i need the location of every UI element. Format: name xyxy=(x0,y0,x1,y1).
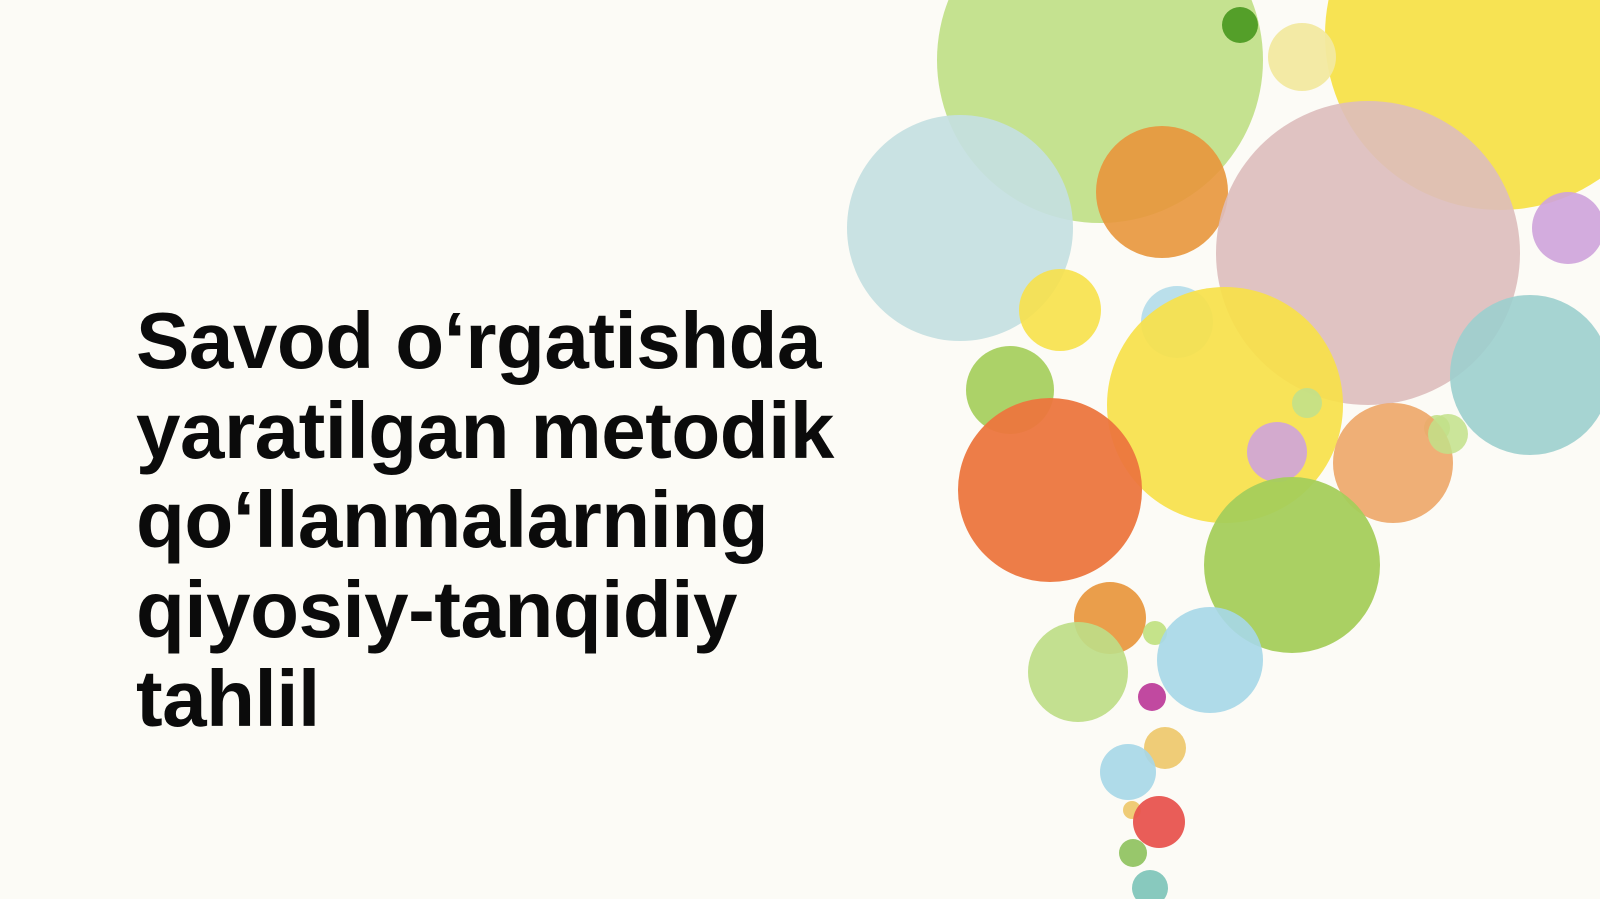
decorative-circle-orange-red-large xyxy=(958,398,1142,582)
decorative-circle-pink-large xyxy=(1216,101,1520,405)
decorative-circle-green-dot-bottom xyxy=(1119,839,1147,867)
decorative-circle-dark-green-dot xyxy=(1222,7,1258,43)
decorative-circle-light-green-lower xyxy=(1028,622,1128,722)
decorative-circle-yellow-large-topright xyxy=(1325,0,1600,210)
decorative-circle-sky-blue-lower xyxy=(1157,607,1263,713)
decorative-circle-lime-small-right xyxy=(1428,414,1468,454)
decorative-circle-gold-dot-bottom xyxy=(1123,801,1141,819)
decorative-circle-teal-right xyxy=(1450,295,1600,455)
decorative-circle-bright-green-large-low xyxy=(1204,477,1380,653)
decorative-circle-yellow-medium-upper xyxy=(1019,269,1101,351)
decorative-circle-teal-dot-bottom xyxy=(1132,870,1168,899)
decorative-circle-light-green-large-top xyxy=(937,0,1263,223)
decorative-circle-sky-blue-small-bottom xyxy=(1100,744,1156,800)
decorative-circle-purple-small-mid xyxy=(1247,422,1307,482)
title-slide: Savod oʻrgatishda yaratilgan metodik qoʻ… xyxy=(0,0,1600,899)
page-title: Savod oʻrgatishda yaratilgan metodik qoʻ… xyxy=(136,296,916,744)
decorative-circle-lime-dot-lower xyxy=(1143,621,1167,645)
decorative-circle-red-small-bottom xyxy=(1133,796,1185,848)
decorative-circle-light-orange-right xyxy=(1333,403,1453,523)
decorative-circle-lime-dot-right xyxy=(1292,388,1322,418)
decorative-circle-pale-yellow-small xyxy=(1268,23,1336,91)
decorative-circle-gold-small xyxy=(1144,727,1186,769)
decorative-circle-orange-medium-top xyxy=(1096,126,1228,258)
decorative-circle-sky-blue-small-upper xyxy=(1141,286,1213,358)
decorative-circle-bright-green-small xyxy=(966,346,1054,434)
decorative-circle-orange-small-lower xyxy=(1074,582,1146,654)
decorative-circle-yellow-large-mid xyxy=(1107,287,1343,523)
decorative-circle-lime-dot-right-2 xyxy=(1424,415,1450,441)
title-block: Savod oʻrgatishda yaratilgan metodik qoʻ… xyxy=(136,296,916,744)
decorative-circle-magenta-dot xyxy=(1138,683,1166,711)
decorative-circle-purple-right-edge xyxy=(1532,192,1600,264)
